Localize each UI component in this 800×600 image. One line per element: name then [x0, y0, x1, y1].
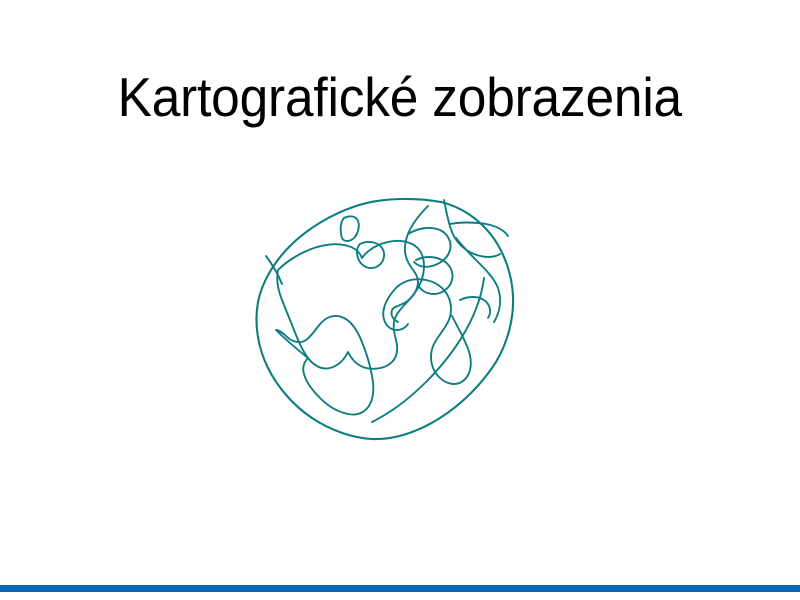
- southern-coast-icon: [372, 278, 484, 422]
- north-america-coast-detail-icon: [266, 256, 282, 284]
- title-area: Kartografické zobrazenia: [0, 62, 800, 132]
- africa-icon: [398, 279, 471, 384]
- asia-icon: [444, 200, 500, 257]
- greenland-icon: [341, 216, 359, 241]
- globe-sketch-svg: [248, 190, 524, 448]
- africa-west-coast-icon: [383, 286, 408, 330]
- asia-coast-icon: [456, 238, 500, 322]
- page-title: Kartografické zobrazenia: [118, 70, 682, 125]
- europe-icon: [391, 206, 428, 322]
- middle-east-icon: [416, 257, 453, 294]
- asia-detail-icon: [450, 223, 508, 237]
- globe-illustration: [248, 190, 524, 448]
- slide-canvas: Kartografické zobrazenia: [0, 0, 800, 600]
- bottom-accent-bar: [0, 585, 800, 592]
- africa-horn-icon: [460, 297, 490, 318]
